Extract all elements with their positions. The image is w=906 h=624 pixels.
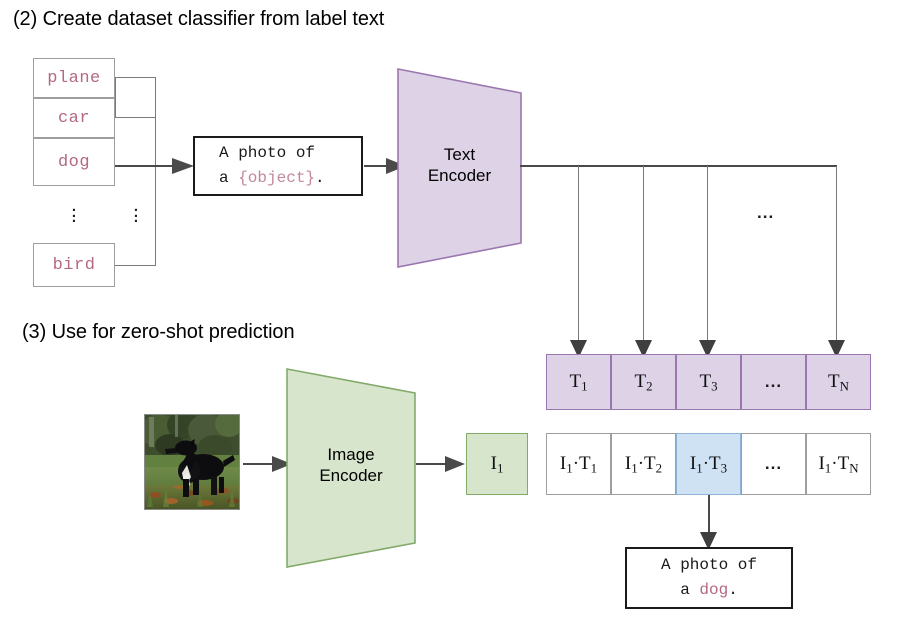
connector-plane [115,77,156,78]
prompt-line-2-prefix: a [219,169,238,187]
prediction-line-2-suffix: . [728,581,738,599]
text-embedding-label-3: T3 [699,371,717,393]
label-box-plane[interactable]: plane [33,58,115,98]
image-embedding-cell[interactable]: I1 [466,433,528,495]
label-box-dog[interactable]: dog [33,138,115,186]
prediction-line-2: a dog. [627,578,791,603]
connector-car [115,117,156,118]
section-3-heading: (3) Use for zero-shot prediction [22,321,294,344]
text-encoder-label: Text Encoder [397,144,522,187]
fanout-drop-n [836,166,837,344]
prediction-line-2-prefix: a [680,581,699,599]
input-image-photo[interactable] [144,414,240,510]
label-list-ellipsis-left: ... [69,204,79,221]
prediction-class-word: dog [699,581,728,599]
prompt-object-token: {object} [238,169,315,187]
image-encoder-label-line2: Encoder [286,465,416,486]
text-embedding-label-2: T2 [634,371,652,393]
image-embedding-label: I1 [491,453,504,475]
label-box-bird[interactable]: bird [33,243,115,287]
similarity-cell-2[interactable]: I1·T2 [611,433,676,495]
similarity-label-n: I1·TN [818,453,858,475]
label-text-bird: bird [53,256,96,275]
label-box-car[interactable]: car [33,98,115,138]
similarity-ellipsis: ... [765,454,782,474]
label-text-plane: plane [47,69,101,88]
image-encoder-shape[interactable]: Image Encoder [286,368,416,568]
clip-zero-shot-figure: (2) Create dataset classifier from label… [0,0,906,624]
prompt-line-2: a {object}. [219,166,361,191]
prediction-output-box[interactable]: A photo of a dog. [625,547,793,609]
text-embedding-cell-1[interactable]: T1 [546,354,611,410]
input-image-render [145,415,239,509]
fanout-bus [520,165,837,167]
connector-inner-riser [115,77,116,118]
similarity-cell-3-highlighted[interactable]: I1·T3 [676,433,741,495]
prompt-line-2-suffix: . [315,169,325,187]
image-encoder-label: Image Encoder [286,444,416,487]
text-embedding-cell-n[interactable]: TN [806,354,871,410]
arrow-labels-to-prompt-line [115,165,178,167]
section-2-heading: (2) Create dataset classifier from label… [13,8,384,31]
label-list-ellipsis-right: ... [131,204,141,221]
similarity-cell-1[interactable]: I1·T1 [546,433,611,495]
image-encoder-label-line1: Image [286,444,416,465]
arrow-image-encoder-to-embedding-head [445,455,467,473]
text-encoder-label-line2: Encoder [397,165,522,186]
prompt-line-1: A photo of [219,141,361,166]
prediction-line-1: A photo of [627,553,791,578]
connector-spine [155,77,156,266]
text-encoder-shape[interactable]: Text Encoder [397,68,522,268]
similarity-cell-n[interactable]: I1·TN [806,433,871,495]
similarity-label-2: I1·T2 [625,453,662,475]
text-embedding-cell-ellipsis: ... [741,354,806,410]
fanout-drop-2 [643,166,644,344]
fanout-ellipsis: ... [757,203,774,223]
text-encoder-label-line1: Text [397,144,522,165]
text-embedding-label-n: TN [828,371,849,393]
arrow-to-prediction-line [708,495,710,537]
fanout-drop-1 [578,166,579,344]
similarity-cell-ellipsis: ... [741,433,806,495]
connector-bird [115,265,156,266]
text-embedding-ellipsis: ... [765,372,782,392]
text-embedding-cell-2[interactable]: T2 [611,354,676,410]
text-embedding-label-1: T1 [569,371,587,393]
label-text-car: car [58,109,90,128]
label-text-dog: dog [58,153,90,172]
text-embedding-cell-3[interactable]: T3 [676,354,741,410]
fanout-drop-3 [707,166,708,344]
prompt-template-box[interactable]: A photo of a {object}. [193,136,363,196]
similarity-label-3: I1·T3 [690,453,727,475]
similarity-label-1: I1·T1 [560,453,597,475]
